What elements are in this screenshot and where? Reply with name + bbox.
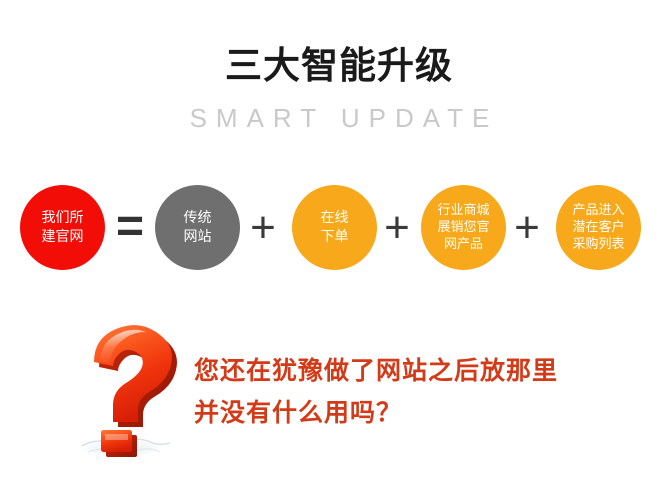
node-online-order-label: 在线 下单 — [321, 209, 349, 247]
bottom-message-line-2: 并没有什么用吗？ — [194, 392, 644, 434]
question-mark-icon — [72, 322, 198, 466]
bottom-message-line-1: 您还在犹豫做了网站之后放那里 — [194, 350, 644, 392]
node-traditional-site-label: 传统 网站 — [184, 209, 212, 247]
node-mall-display-label: 行业商城 展销您官 网产品 — [437, 202, 489, 253]
bottom-message: 您还在犹豫做了网站之后放那里 并没有什么用吗？ — [194, 350, 644, 434]
node-traditional-site: 传统 网站 — [155, 185, 240, 270]
node-our-site: 我们所 建官网 — [20, 185, 105, 270]
node-buyer-list-label: 产品进入 潜在客户 采购列表 — [572, 202, 624, 253]
plus-sign-1: + — [243, 203, 283, 253]
node-online-order: 在线 下单 — [292, 185, 377, 270]
question-mark-dot — [101, 430, 132, 452]
question-mark-body — [94, 325, 172, 422]
equals-sign: = — [107, 202, 153, 252]
upgrade-formula: 我们所 建官网 = 传统 网站 + 在线 下单 + 行业商城 展销您官 网产品 … — [0, 185, 660, 271]
promo-banner: 三大智能升级 SMART UPDATE 我们所 建官网 = 传统 网站 + 在线… — [0, 0, 660, 492]
page-title: 三大智能升级 — [9, 44, 660, 88]
question-mark-dot-gloss — [105, 434, 128, 440]
node-mall-display: 行业商城 展销您官 网产品 — [421, 185, 506, 270]
page-subtitle: SMART UPDATE — [14, 103, 660, 133]
plus-sign-3: + — [507, 203, 547, 253]
node-our-site-label: 我们所 建官网 — [42, 209, 84, 247]
plus-sign-2: + — [377, 203, 417, 253]
node-buyer-list: 产品进入 潜在客户 采购列表 — [556, 185, 641, 270]
